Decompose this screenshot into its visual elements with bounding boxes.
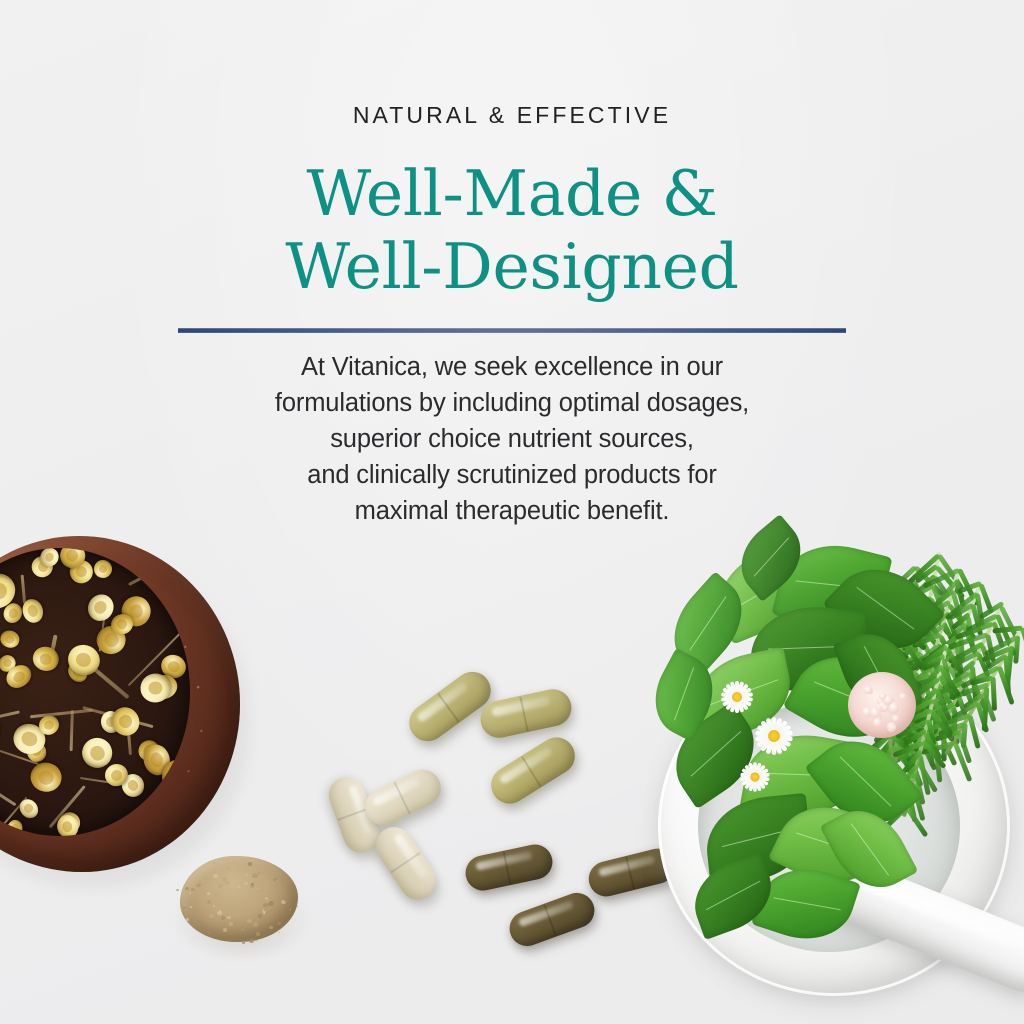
powder-grain: [219, 910, 221, 912]
powder-grain: [207, 892, 210, 895]
powder-grain: [222, 877, 227, 881]
body-paragraph: At Vitanica, we seek excellence in our f…: [0, 349, 1024, 529]
powder-grain: [228, 882, 230, 883]
leaf-vein: [839, 757, 891, 807]
body-line-3: superior choice nutrient sources,: [0, 421, 1024, 457]
clover-floret: [892, 715, 898, 721]
clover-floret: [899, 693, 906, 700]
powder-grain: [250, 885, 254, 888]
chamomile-flower: [0, 628, 21, 650]
headline-line-1: Well-Made &: [0, 157, 1024, 230]
leaf-vein: [690, 731, 740, 777]
powder-grain: [255, 939, 257, 941]
powder-grain: [213, 874, 218, 878]
chamomile-stem: [0, 769, 16, 806]
chamomile-flower: [106, 702, 145, 741]
powder-grain: [229, 922, 233, 925]
chamomile-flower: [91, 557, 115, 581]
eyebrow-label: NATURAL & EFFECTIVE: [0, 104, 1024, 127]
headline-text-block: NATURAL & EFFECTIVE Well-Made & Well-Des…: [0, 0, 1024, 530]
white-daisy: [718, 678, 756, 716]
powder-grain: [190, 906, 191, 907]
powder-grain: [191, 888, 195, 891]
chamomile-flower: [30, 644, 62, 674]
body-line-5: maximal therapeutic benefit.: [0, 493, 1024, 529]
powder-grain: [209, 914, 213, 918]
powder-grain: [249, 939, 254, 943]
chamomile-flower: [16, 795, 41, 821]
body-line-1: At Vitanica, we seek excellence in our: [0, 349, 1024, 385]
white-ceramic-mortar-and-pestle: [640, 548, 1024, 1024]
clover-floret: [879, 693, 886, 700]
leaf-vein: [773, 897, 840, 910]
chamomile-stem: [30, 709, 93, 719]
powder-grain: [213, 862, 215, 864]
chamomile-flower: [29, 760, 64, 794]
powder-grain: [185, 887, 189, 890]
powder-grain: [284, 898, 288, 901]
powder-grain: [252, 873, 257, 878]
chamomile-stem: [0, 710, 20, 725]
powder-grain: [256, 932, 261, 936]
leaf-vein: [706, 880, 760, 910]
clover-floret: [873, 718, 882, 727]
powder-mound: [180, 856, 298, 942]
powder-grain: [189, 892, 191, 894]
powder-grain: [257, 882, 260, 885]
clover-floret: [864, 686, 872, 694]
leaf-vein: [851, 823, 890, 875]
promo-graphic: NATURAL & EFFECTIVE Well-Made & Well-Des…: [0, 0, 1024, 1024]
pink-clover-flower: [848, 672, 916, 738]
powder-grain: [258, 914, 262, 917]
powder-grain: [176, 889, 179, 891]
body-line-2: formulations by including optimal dosage…: [0, 385, 1024, 421]
wooden-bowl-dried-chamomile: [0, 536, 250, 888]
white-daisy: [738, 760, 773, 795]
bowl-body: [0, 536, 240, 872]
white-daisy: [752, 714, 797, 759]
chamomile-stem: [21, 575, 26, 604]
powder-grain: [195, 882, 199, 885]
powder-grain: [248, 862, 253, 866]
chamomile-stem: [70, 710, 74, 751]
powder-grain: [277, 922, 281, 925]
clover-floret: [887, 722, 897, 732]
daisy-center: [732, 692, 742, 702]
leaf-vein: [689, 596, 727, 651]
leaf-vein: [753, 538, 789, 577]
powder-grain: [269, 926, 272, 929]
herbal-powder-pile: [168, 848, 312, 956]
powder-grain: [203, 876, 208, 880]
rosemary-needle: [1020, 627, 1024, 660]
headline-line-2: Well-Designed: [0, 230, 1024, 303]
powder-grain: [215, 893, 220, 897]
powder-grain: [223, 928, 227, 931]
powder-grain: [247, 919, 251, 923]
page-title: Well-Made & Well-Designed: [0, 157, 1024, 303]
powder-grain: [258, 872, 260, 873]
leaf-vein: [674, 667, 695, 720]
powder-grain: [183, 907, 185, 908]
body-line-4: and clinically scrutinized products for: [0, 457, 1024, 493]
powder-grain: [208, 932, 211, 934]
clover-floret: [882, 705, 888, 711]
